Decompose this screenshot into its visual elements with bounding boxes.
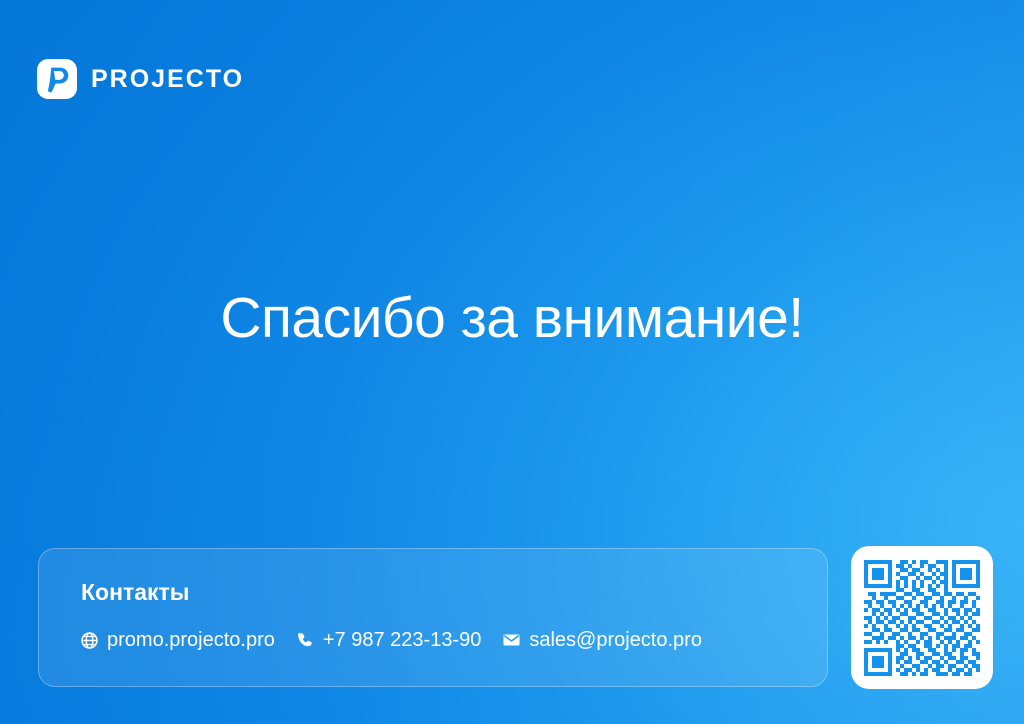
contact-item-website[interactable]: promo.projecto.pro bbox=[81, 630, 275, 650]
slide-headline: Спасибо за внимание! bbox=[0, 286, 1024, 352]
contact-website-label: promo.projecto.pro bbox=[107, 630, 275, 650]
logo-lockup: PROJECTO bbox=[37, 59, 244, 99]
globe-icon bbox=[81, 632, 98, 649]
contacts-title: Контакты bbox=[81, 581, 189, 604]
envelope-icon bbox=[503, 632, 520, 649]
contacts-list: promo.projecto.pro +7 987 223-13-90 bbox=[81, 630, 702, 650]
presentation-slide: PROJECTO Спасибо за внимание! Контакты p… bbox=[0, 0, 1024, 724]
contact-item-email[interactable]: sales@projecto.pro bbox=[503, 630, 702, 650]
logo-wordmark: PROJECTO bbox=[91, 67, 244, 92]
phone-icon bbox=[297, 632, 314, 649]
qr-code-panel[interactable] bbox=[851, 546, 993, 689]
contact-phone-label: +7 987 223-13-90 bbox=[323, 630, 481, 650]
projecto-p-logo-icon bbox=[37, 59, 77, 99]
qr-code-icon bbox=[864, 560, 980, 676]
contacts-card: Контакты promo.projecto.pro bbox=[38, 548, 828, 687]
contact-email-label: sales@projecto.pro bbox=[529, 630, 702, 650]
contact-item-phone[interactable]: +7 987 223-13-90 bbox=[297, 630, 481, 650]
